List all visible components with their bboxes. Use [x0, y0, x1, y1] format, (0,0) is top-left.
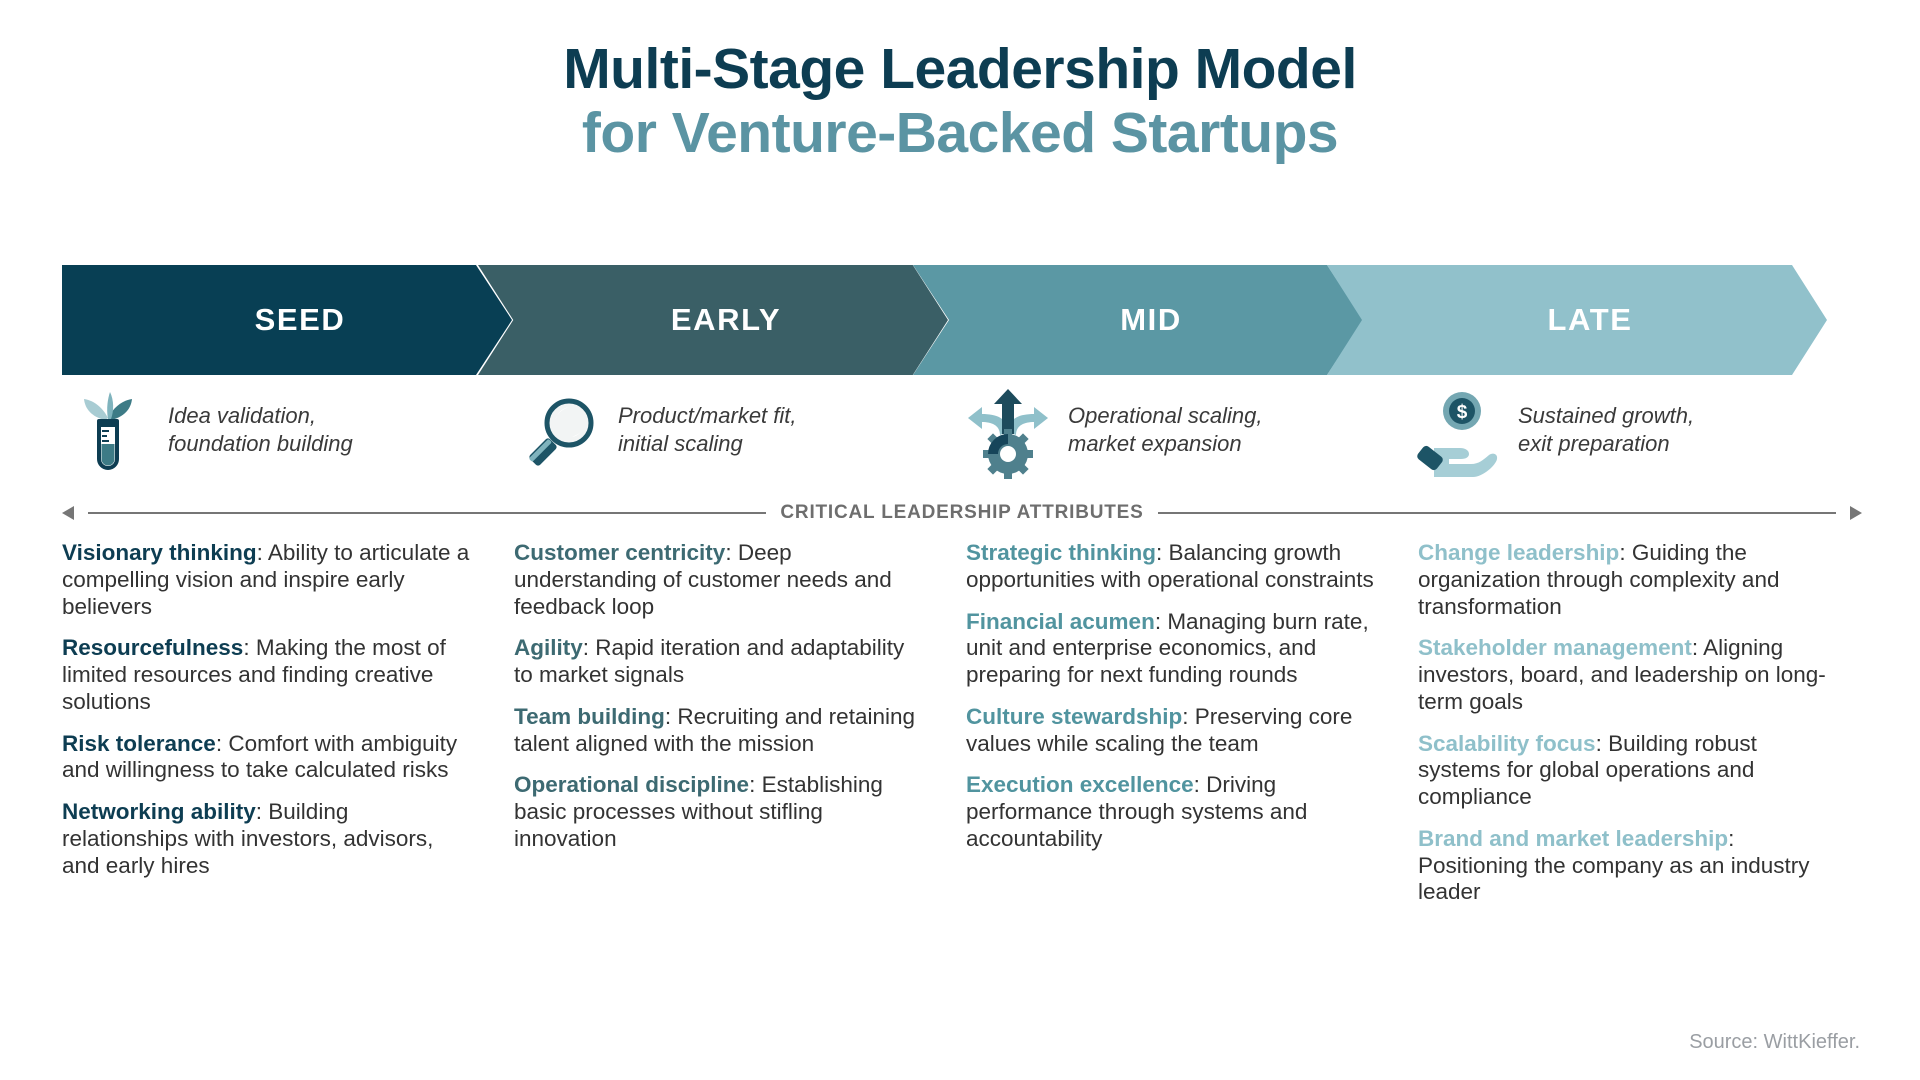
- attribute-item: Risk tolerance: Comfort with ambiguity a…: [62, 731, 472, 785]
- title-line-primary: Multi-Stage Leadership Model: [0, 38, 1920, 102]
- stage-chevron-label: MID: [1094, 302, 1182, 338]
- divider-label: CRITICAL LEADERSHIP ATTRIBUTES: [780, 502, 1143, 524]
- attribute-term: Customer centricity: [514, 540, 725, 565]
- attribute-term: Scalability focus: [1418, 731, 1596, 756]
- magnifying-glass-icon: [512, 388, 604, 480]
- attribute-term: Team building: [514, 704, 665, 729]
- attribute-item: Team building: Recruiting and retaining …: [514, 704, 924, 758]
- stage-caption-line2: initial scaling: [618, 430, 962, 458]
- attribute-term: Brand and market leadership: [1418, 826, 1728, 851]
- attribute-item: Visionary thinking: Ability to articulat…: [62, 540, 472, 620]
- attribute-term: Strategic thinking: [966, 540, 1156, 565]
- stage-caption-line1: Product/market fit,: [618, 402, 962, 430]
- attribute-item: Culture stewardship: Preserving core val…: [966, 704, 1376, 758]
- divider-rule-left: [88, 512, 766, 514]
- stage-chevron-seed[interactable]: SEED: [62, 265, 512, 375]
- attribute-column-mid: Strategic thinking: Balancing growth opp…: [966, 540, 1418, 921]
- attribute-column-seed: Visionary thinking: Ability to articulat…: [62, 540, 514, 921]
- attribute-item: Operational discipline: Establishing bas…: [514, 772, 924, 852]
- stage-summary-late: $ Sustained growth, exit preparation: [1412, 382, 1862, 492]
- stage-summary-seed: Idea validation, foundation building: [62, 382, 512, 492]
- attribute-item: Resourcefulness: Making the most of limi…: [62, 635, 472, 715]
- arrow-left-icon: [62, 506, 74, 520]
- stage-caption-line2: exit preparation: [1518, 430, 1862, 458]
- attribute-item: Customer centricity: Deep understanding …: [514, 540, 924, 620]
- attribute-item: Financial acumen: Managing burn rate, un…: [966, 609, 1376, 689]
- svg-text:$: $: [1457, 402, 1468, 423]
- stage-caption-line2: foundation building: [168, 430, 512, 458]
- stage-caption: Operational scaling, market expansion: [1068, 388, 1412, 458]
- attribute-columns: Visionary thinking: Ability to articulat…: [62, 540, 1872, 921]
- attribute-term: Stakeholder management: [1418, 635, 1692, 660]
- attribute-column-early: Customer centricity: Deep understanding …: [514, 540, 966, 921]
- stage-caption: Product/market fit, initial scaling: [618, 388, 962, 458]
- hand-holding-coin-icon: $: [1412, 388, 1504, 480]
- stage-chevron-label: SEED: [229, 302, 346, 338]
- infographic-page: Multi-Stage Leadership Model for Venture…: [0, 0, 1920, 1080]
- stage-caption-line1: Operational scaling,: [1068, 402, 1412, 430]
- attribute-term: Agility: [514, 635, 583, 660]
- attribute-term: Resourcefulness: [62, 635, 243, 660]
- stage-caption-line1: Idea validation,: [168, 402, 512, 430]
- attribute-item: Brand and market leadership: Positioning…: [1418, 826, 1828, 906]
- gear-expansion-arrows-icon: [962, 388, 1054, 480]
- divider-rule-right: [1158, 512, 1836, 514]
- attribute-term: Financial acumen: [966, 609, 1155, 634]
- attribute-item: Agility: Rapid iteration and adaptabilit…: [514, 635, 924, 689]
- critical-attributes-divider: CRITICAL LEADERSHIP ATTRIBUTES: [62, 500, 1862, 526]
- stage-chevron-early[interactable]: EARLY: [478, 265, 948, 375]
- stage-caption-line1: Sustained growth,: [1518, 402, 1862, 430]
- stage-caption-line2: market expansion: [1068, 430, 1412, 458]
- stage-caption: Sustained growth, exit preparation: [1518, 388, 1862, 458]
- attribute-item: Strategic thinking: Balancing growth opp…: [966, 540, 1376, 594]
- stage-chevron-label: LATE: [1521, 302, 1632, 338]
- page-title: Multi-Stage Leadership Model for Venture…: [0, 38, 1920, 166]
- stage-caption: Idea validation, foundation building: [168, 388, 512, 458]
- attribute-term: Visionary thinking: [62, 540, 257, 565]
- stage-chevron-late[interactable]: LATE: [1327, 265, 1827, 375]
- stage-chevron-banner: SEED EARLY MID LATE: [62, 265, 1862, 375]
- attribute-term: Change leadership: [1418, 540, 1619, 565]
- stage-summary-row: Idea validation, foundation building Pro…: [62, 382, 1862, 492]
- source-attribution: Source: WittKieffer.: [1689, 1031, 1860, 1054]
- attribute-item: Execution excellence: Driving performanc…: [966, 772, 1376, 852]
- stage-chevron-label: EARLY: [645, 302, 781, 338]
- stage-chevron-mid[interactable]: MID: [913, 265, 1363, 375]
- attribute-column-late: Change leadership: Guiding the organizat…: [1418, 540, 1870, 921]
- test-tube-plant-icon: [62, 388, 154, 480]
- attribute-term: Culture stewardship: [966, 704, 1182, 729]
- title-line-secondary: for Venture-Backed Startups: [0, 102, 1920, 166]
- attribute-term: Operational discipline: [514, 772, 749, 797]
- attribute-item: Stakeholder management: Aligning investo…: [1418, 635, 1828, 715]
- attribute-term: Networking ability: [62, 799, 256, 824]
- stage-summary-mid: Operational scaling, market expansion: [962, 382, 1412, 492]
- stage-summary-early: Product/market fit, initial scaling: [512, 382, 962, 492]
- attribute-item: Networking ability: Building relationshi…: [62, 799, 472, 879]
- attribute-item: Change leadership: Guiding the organizat…: [1418, 540, 1828, 620]
- attribute-term: Risk tolerance: [62, 731, 216, 756]
- attribute-term: Execution excellence: [966, 772, 1194, 797]
- attribute-item: Scalability focus: Building robust syste…: [1418, 731, 1828, 811]
- arrow-right-icon: [1850, 506, 1862, 520]
